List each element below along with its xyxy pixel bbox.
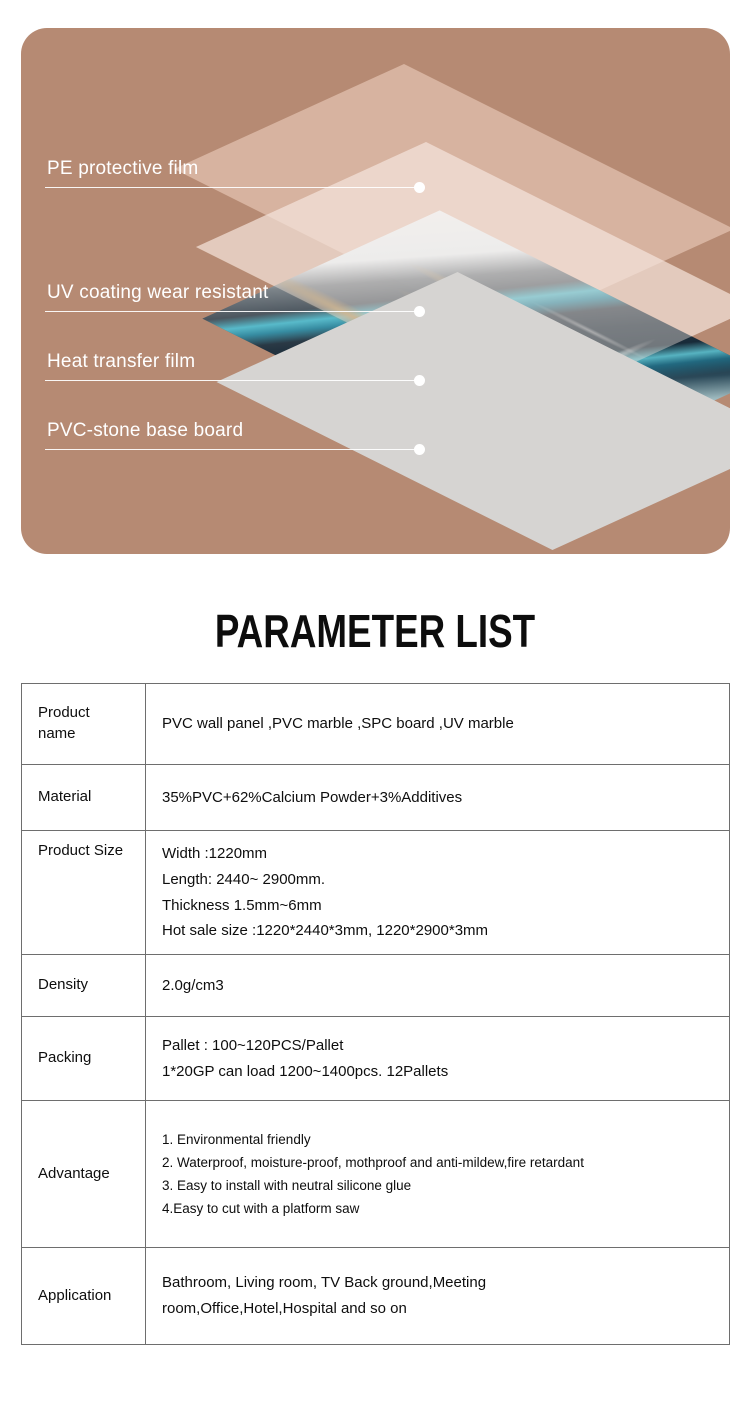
- callout-label: Heat transfer film: [45, 351, 420, 373]
- value-line: 4.Easy to cut with a platform saw: [162, 1197, 729, 1220]
- callout-leader-line: [45, 449, 420, 450]
- value-line: 2. Waterproof, moisture-proof, mothproof…: [162, 1151, 729, 1174]
- row-key-advantage: Advantage: [22, 1101, 146, 1248]
- row-key-density: Density: [22, 955, 146, 1017]
- callout-leader-line: [45, 311, 420, 312]
- table-row: Material 35%PVC+62%Calcium Powder+3%Addi…: [22, 765, 730, 831]
- row-value-material: 35%PVC+62%Calcium Powder+3%Additives: [146, 765, 730, 831]
- table-row: Density 2.0g/cm3: [22, 955, 730, 1017]
- value-line: Width :1220mm: [162, 841, 729, 867]
- row-value-application: Bathroom, Living room, TV Back ground,Me…: [146, 1248, 730, 1345]
- row-value-advantage: 1. Environmental friendly 2. Waterproof,…: [146, 1101, 730, 1248]
- value-line: 35%PVC+62%Calcium Powder+3%Additives: [162, 785, 729, 811]
- value-line: Thickness 1.5mm~6mm: [162, 893, 729, 919]
- page-title: PARAMETER LIST: [75, 604, 675, 658]
- callout-label: PE protective film: [45, 158, 420, 180]
- row-value-packing: Pallet : 100~120PCS/Pallet 1*20GP can lo…: [146, 1017, 730, 1101]
- callout-dot-icon: [414, 444, 425, 455]
- callout-leader-line: [45, 187, 420, 188]
- value-line: Bathroom, Living room, TV Back ground,Me…: [162, 1270, 729, 1296]
- row-key-packing: Packing: [22, 1017, 146, 1101]
- row-key-line: name: [38, 724, 145, 745]
- row-key-product-size: Product Size: [22, 831, 146, 955]
- callout-uv-coating: UV coating wear resistant: [45, 282, 420, 312]
- callout-pvc-stone-base-board: PVC-stone base board: [45, 420, 420, 450]
- row-key-product-name: Product name: [22, 684, 146, 765]
- value-line: PVC wall panel ,PVC marble ,SPC board ,U…: [162, 711, 729, 737]
- callout-leader-line: [45, 380, 420, 381]
- row-key-application: Application: [22, 1248, 146, 1345]
- table-row: Packing Pallet : 100~120PCS/Pallet 1*20G…: [22, 1017, 730, 1101]
- row-key-material: Material: [22, 765, 146, 831]
- value-line: 1*20GP can load 1200~1400pcs. 12Pallets: [162, 1059, 729, 1085]
- callout-heat-transfer-film: Heat transfer film: [45, 351, 420, 381]
- row-key-line: Product: [38, 703, 145, 724]
- row-value-density: 2.0g/cm3: [146, 955, 730, 1017]
- table-row: Product name PVC wall panel ,PVC marble …: [22, 684, 730, 765]
- table-row: Product Size Width :1220mm Length: 2440~…: [22, 831, 730, 955]
- row-value-product-name: PVC wall panel ,PVC marble ,SPC board ,U…: [146, 684, 730, 765]
- value-line: Length: 2440~ 2900mm.: [162, 867, 729, 893]
- row-value-product-size: Width :1220mm Length: 2440~ 2900mm. Thic…: [146, 831, 730, 955]
- value-line: 1. Environmental friendly: [162, 1128, 729, 1151]
- parameter-table: Product name PVC wall panel ,PVC marble …: [21, 683, 730, 1345]
- callout-pe-protective-film: PE protective film: [45, 158, 420, 188]
- callout-dot-icon: [414, 375, 425, 386]
- value-line: Hot sale size :1220*2440*3mm, 1220*2900*…: [162, 918, 729, 944]
- callout-dot-icon: [414, 182, 425, 193]
- callout-label: UV coating wear resistant: [45, 282, 420, 304]
- value-line: Pallet : 100~120PCS/Pallet: [162, 1033, 729, 1059]
- value-line: 3. Easy to install with neutral silicone…: [162, 1174, 729, 1197]
- table-row: Application Bathroom, Living room, TV Ba…: [22, 1248, 730, 1345]
- callout-dot-icon: [414, 306, 425, 317]
- value-line: 2.0g/cm3: [162, 973, 729, 999]
- product-structure-hero: PE protective film UV coating wear resis…: [21, 28, 730, 554]
- callout-label: PVC-stone base board: [45, 420, 420, 442]
- table-row: Advantage 1. Environmental friendly 2. W…: [22, 1101, 730, 1248]
- value-line: room,Office,Hotel,Hospital and so on: [162, 1296, 729, 1322]
